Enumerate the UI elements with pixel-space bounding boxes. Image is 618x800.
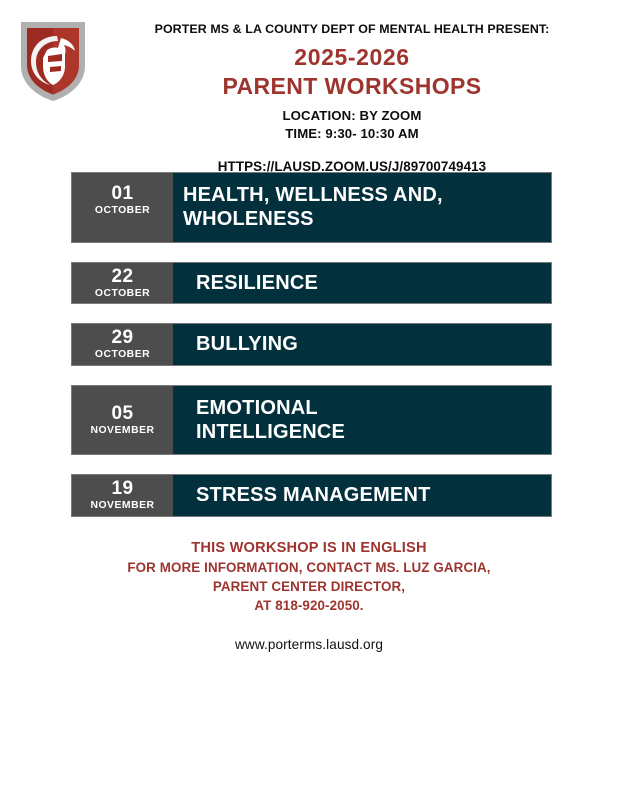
workshop-topic: EMOTIONAL INTELLIGENCE [183,396,345,445]
workshop-row: 29 OCTOBER BULLYING [71,323,552,365]
school-year: 2025-2026 [96,43,608,73]
workshop-day: 01 [112,183,134,204]
workshop-date-box: 01 OCTOBER [72,173,173,242]
time-line: TIME: 9:30- 10:30 AM [96,125,608,143]
workshop-row: 19 NOVEMBER STRESS MANAGEMENT [71,474,552,516]
porter-ms-shield-logo [17,18,89,104]
workshop-row: 05 NOVEMBER EMOTIONAL INTELLIGENCE [71,385,552,456]
workshop-topic-box: EMOTIONAL INTELLIGENCE [173,386,551,455]
workshop-topic: HEALTH, WELLNESS AND, WHOLENESS [183,183,443,232]
workshop-month: NOVEMBER [90,425,154,437]
workshop-month: OCTOBER [95,349,150,361]
workshop-date-box: 22 OCTOBER [72,263,173,303]
flyer-footer: THIS WORKSHOP IS IN ENGLISH FOR MORE INF… [0,539,618,652]
contact-line-2: PARENT CENTER DIRECTOR, [0,577,618,596]
flyer-header: PORTER MS & LA COUNTY DEPT OF MENTAL HEA… [0,0,618,172]
workshop-day: 29 [112,327,134,348]
page-title: PARENT WORKSHOPS [96,73,608,101]
workshop-topic-box: BULLYING [173,324,551,364]
contact-line-1: FOR MORE INFORMATION, CONTACT MS. LUZ GA… [0,558,618,577]
workshop-topic-box: RESILIENCE [173,263,551,303]
workshop-row: 22 OCTOBER RESILIENCE [71,262,552,304]
workshop-day: 05 [112,403,134,424]
workshop-date-box: 19 NOVEMBER [72,475,173,515]
workshop-topic: RESILIENCE [183,271,318,295]
school-website: www.porterms.lausd.org [0,637,618,652]
workshop-topic-box: HEALTH, WELLNESS AND, WHOLENESS [173,173,551,242]
workshop-topic-box: STRESS MANAGEMENT [173,475,551,515]
contact-line-3: AT 818-920-2050. [0,596,618,615]
workshop-date-box: 05 NOVEMBER [72,386,173,455]
workshop-topic: BULLYING [183,332,298,356]
workshop-row: 01 OCTOBER HEALTH, WELLNESS AND, WHOLENE… [71,172,552,243]
location-line: LOCATION: BY ZOOM [96,107,608,125]
language-note: THIS WORKSHOP IS IN ENGLISH [0,539,618,559]
workshop-topic: STRESS MANAGEMENT [183,483,431,507]
workshop-day: 19 [112,478,134,499]
workshop-month: OCTOBER [95,205,150,217]
presenter-line: PORTER MS & LA COUNTY DEPT OF MENTAL HEA… [96,22,608,38]
workshop-date-box: 29 OCTOBER [72,324,173,364]
workshop-day: 22 [112,266,134,287]
workshop-month: OCTOBER [95,288,150,300]
workshop-list: 01 OCTOBER HEALTH, WELLNESS AND, WHOLENE… [0,172,618,517]
workshop-month: NOVEMBER [90,500,154,512]
